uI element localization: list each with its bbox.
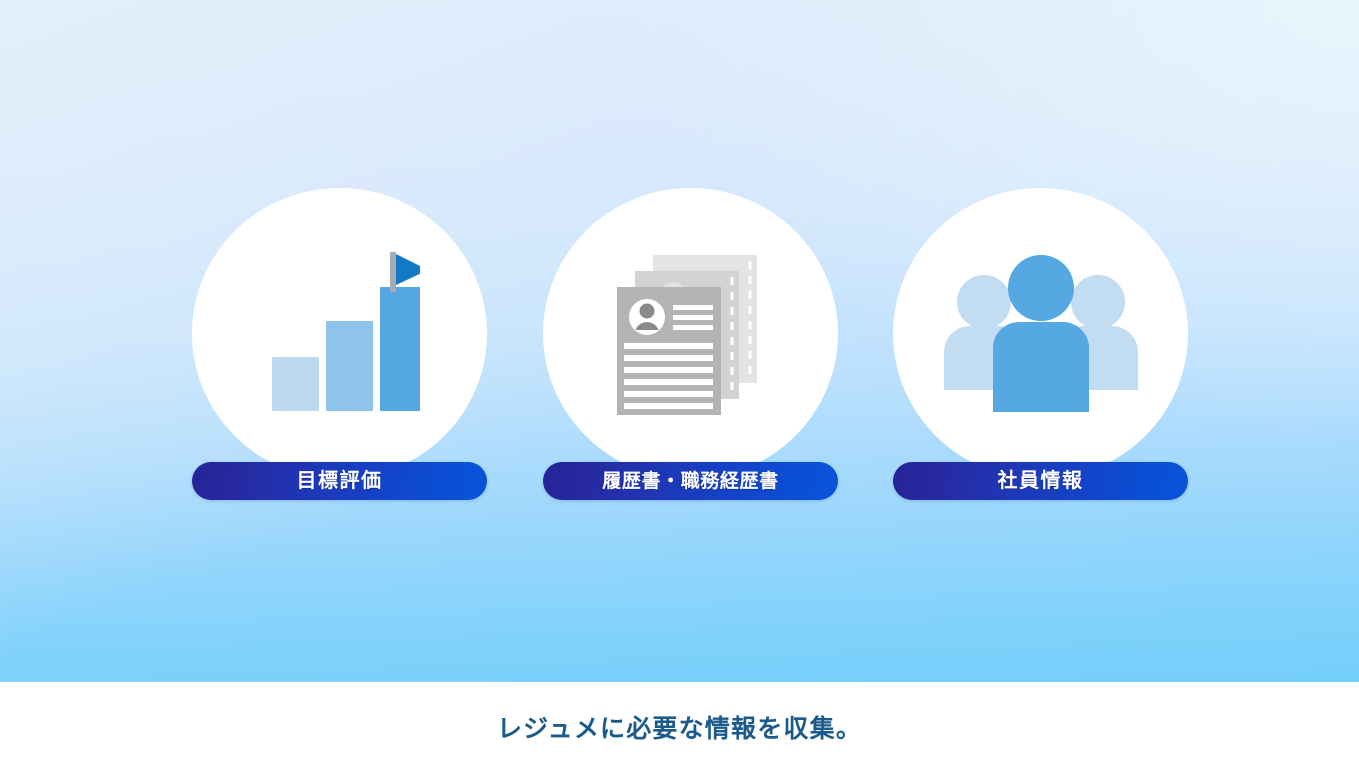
people-group-glyph bbox=[936, 254, 1146, 414]
people-group-icon bbox=[893, 188, 1188, 479]
card-label-text: 履歴書・職務経歴書 bbox=[602, 472, 778, 491]
bar-chart-flag-icon bbox=[192, 188, 487, 479]
card-label-pill-goal-evaluation[interactable]: 目標評価 bbox=[192, 462, 487, 500]
document-stack-icon bbox=[543, 188, 838, 479]
card-label-text: 目標評価 bbox=[297, 471, 383, 491]
caption-text: レジュメに必要な情報を収集。 bbox=[497, 709, 862, 745]
slide-canvas: 目標評価 bbox=[0, 0, 1359, 768]
feature-card-employee-info[interactable]: 社員情報 bbox=[893, 188, 1188, 503]
feature-card-goal-evaluation[interactable]: 目標評価 bbox=[192, 188, 487, 503]
card-label-text: 社員情報 bbox=[998, 471, 1084, 491]
card-label-pill-employee-info[interactable]: 社員情報 bbox=[893, 462, 1188, 500]
caption-strip: レジュメに必要な情報を収集。 bbox=[0, 682, 1359, 768]
card-label-pill-resume[interactable]: 履歴書・職務経歴書 bbox=[543, 462, 838, 500]
feature-card-resume[interactable]: 履歴書・職務経歴書 bbox=[543, 188, 838, 503]
bar-chart-flag-glyph bbox=[260, 249, 420, 419]
feature-card-group: 目標評価 bbox=[0, 188, 1359, 503]
document-stack-glyph bbox=[611, 251, 771, 416]
